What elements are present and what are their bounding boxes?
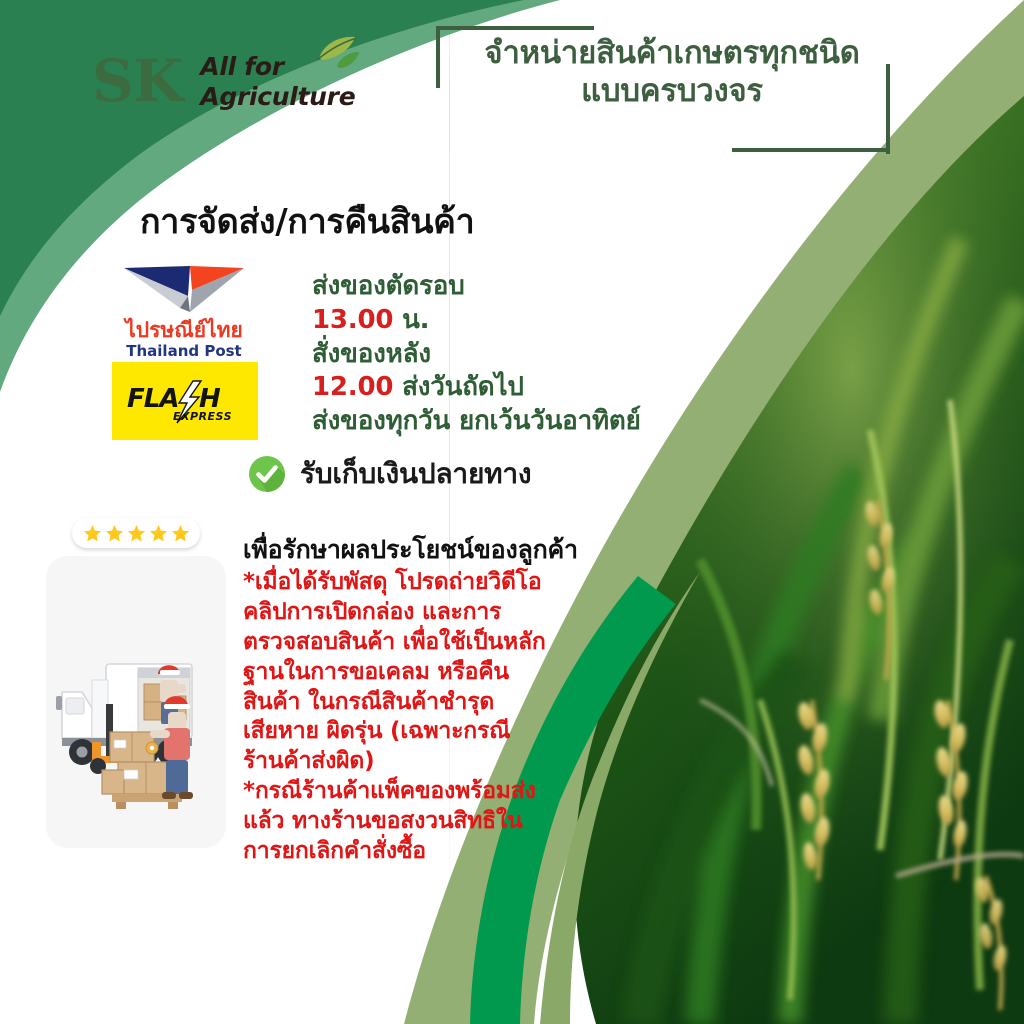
page-title: การจัดส่ง/การคืนสินค้า <box>140 194 474 248</box>
poster-canvas: SK All for Agriculture จำหน่ายสินค้าเกษต… <box>0 0 1024 1024</box>
headline-frame: จำหน่ายสินค้าเกษตรทุกชนิด แบบครบวงจร <box>436 26 916 146</box>
brand-tagline-line2: Agriculture <box>200 82 355 112</box>
star-icon <box>105 524 124 543</box>
brand-logo: SK All for Agriculture <box>92 52 355 111</box>
bracket-left-line <box>436 26 440 88</box>
flash-express-bolt-icon: FLA H EXPRESS <box>123 375 247 427</box>
cutoff-time-unit: น. <box>402 305 429 335</box>
shipping-line-4: 12.00 ส่งวันถัดไป <box>312 371 641 405</box>
thailand-post-label-en: Thailand Post <box>112 344 256 359</box>
bracket-bottom-line <box>732 148 890 152</box>
shipping-line-5: ส่งของทุกวัน ยกเว้นวันอาทิตย์ <box>312 405 641 439</box>
cutoff-time: 13.00 <box>312 305 393 335</box>
headline-line-1: จำหน่ายสินค้าเกษตรทุกชนิด <box>452 34 892 72</box>
leaf-sprout-icon <box>315 36 361 70</box>
bracket-top-line <box>436 26 594 30</box>
thailand-post-label-th: ไปรษณีย์ไทย <box>112 320 256 341</box>
shipping-line-2: 13.00 น. <box>312 304 641 338</box>
cod-label: รับเก็บเงินปลายทาง <box>300 452 531 496</box>
delivery-truck-loading-illustration <box>46 556 226 848</box>
truck-card <box>46 556 226 848</box>
background-decoration <box>0 0 1024 1024</box>
star-icon <box>171 524 190 543</box>
star-icon <box>149 524 168 543</box>
shipping-line-3: สั่งของหลัง <box>312 338 641 372</box>
headline-text: จำหน่ายสินค้าเกษตรทุกชนิด แบบครบวงจร <box>452 34 892 111</box>
green-check-circle-icon <box>248 455 286 493</box>
thailand-post-arrow-icon <box>120 262 248 318</box>
svg-text:FLA: FLA <box>127 384 178 414</box>
carrier-flash-express: FLA H EXPRESS <box>112 362 258 440</box>
star-icon <box>127 524 146 543</box>
next-day-label: ส่งวันถัดไป <box>402 372 524 402</box>
shipping-schedule: ส่งของตัดรอบ 13.00 น. สั่งของหลัง 12.00 … <box>312 270 641 439</box>
page-seam-artifact <box>449 0 450 1024</box>
benefit-body: *เมื่อได้รับพัสดุ โปรดถ่ายวิดีโอ คลิปการ… <box>243 568 595 867</box>
star-icon <box>83 524 102 543</box>
headline-line-2: แบบครบวงจร <box>452 72 892 110</box>
benefit-heading: เพื่อรักษาผลประโยชน์ของลูกค้า <box>243 530 578 570</box>
brand-mark: SK <box>92 55 182 108</box>
rating-stars <box>72 518 200 548</box>
cod-row: รับเก็บเงินปลายทาง <box>248 452 531 496</box>
shipping-line-1: ส่งของตัดรอบ <box>312 270 641 304</box>
order-after-time: 12.00 <box>312 372 393 402</box>
carrier-thailand-post: ไปรษณีย์ไทย Thailand Post <box>112 262 256 359</box>
